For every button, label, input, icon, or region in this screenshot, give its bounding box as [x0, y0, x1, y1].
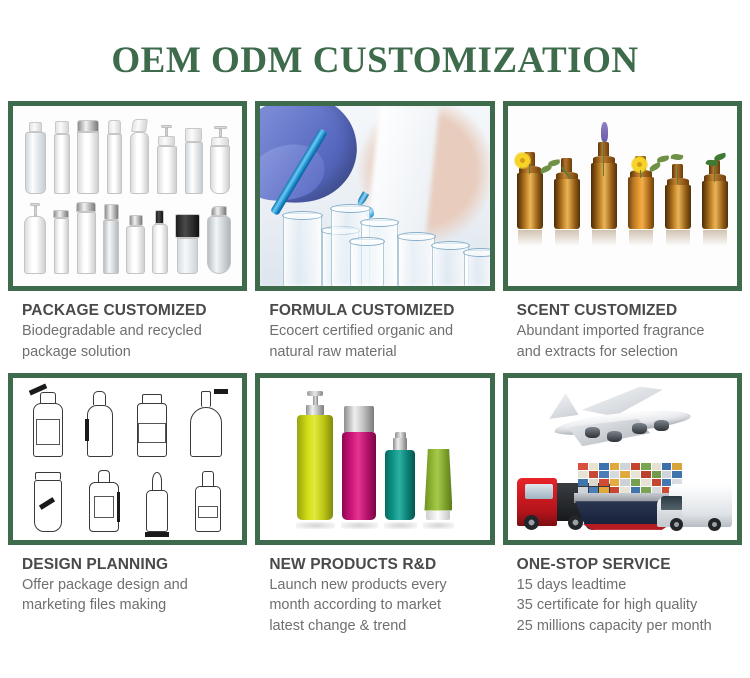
card-caption: NEW PRODUCTS R&D Launch new products eve… [255, 545, 494, 637]
card-image-frame [503, 101, 742, 291]
pink-bottle [342, 406, 376, 520]
card-description-line: Offer package design and [22, 575, 233, 596]
card-image-frame [255, 373, 494, 545]
white-cosmetic-bottles-photo [13, 106, 242, 286]
card-description-line: and extracts for selection [517, 342, 728, 363]
card-image-frame [503, 373, 742, 545]
card-title: FORMULA CUSTOMIZED [269, 301, 480, 320]
card-scent-customized[interactable]: SCENT CUSTOMIZED Abundant imported fragr… [503, 101, 742, 363]
card-description-line: natural raw material [269, 342, 480, 363]
teal-spray-bottle [385, 432, 415, 520]
card-description: Launch new products every month accordin… [269, 575, 480, 637]
card-one-stop-service[interactable]: ONE-STOP SERVICE 15 days leadtime 35 cer… [503, 373, 742, 637]
card-title: PACKAGE CUSTOMIZED [22, 301, 233, 320]
card-description: 15 days leadtime 35 certificate for high… [517, 575, 728, 637]
card-title: DESIGN PLANNING [22, 555, 233, 574]
card-description-line: 35 certificate for high quality [517, 595, 728, 616]
card-caption: SCENT CUSTOMIZED Abundant imported fragr… [503, 291, 742, 363]
card-caption: DESIGN PLANNING Offer package design and… [8, 545, 247, 617]
card-new-products-rd[interactable]: NEW PRODUCTS R&D Launch new products eve… [255, 373, 494, 637]
card-description: Biodegradable and recycled package solut… [22, 321, 233, 362]
card-caption: PACKAGE CUSTOMIZED Biodegradable and rec… [8, 291, 247, 363]
card-title: ONE-STOP SERVICE [517, 555, 728, 574]
card-caption: ONE-STOP SERVICE 15 days leadtime 35 cer… [503, 545, 742, 637]
oem-odm-customization-page: OEM ODM CUSTOMIZATION [0, 0, 750, 678]
feature-grid-row-2: DESIGN PLANNING Offer package design and… [0, 373, 750, 637]
packaging-sketch-drawings [13, 378, 242, 540]
card-description-line: month according to market [269, 595, 480, 616]
card-design-planning[interactable]: DESIGN PLANNING Offer package design and… [8, 373, 247, 637]
lavender-icon [601, 122, 608, 142]
card-description-line: 15 days leadtime [517, 575, 728, 596]
card-description: Abundant imported fragrance and extracts… [517, 321, 728, 362]
logistics-plane-truck-ship-van-photo [508, 378, 737, 540]
amber-essential-oil-bottles-photo [508, 106, 737, 286]
card-description-line: Launch new products every [269, 575, 480, 596]
card-image-frame [8, 373, 247, 545]
card-caption: FORMULA CUSTOMIZED Ecocert certified org… [255, 291, 494, 363]
green-tube [424, 449, 452, 520]
card-description-line: Biodegradable and recycled [22, 321, 233, 342]
airplane-icon [544, 390, 700, 455]
card-title: NEW PRODUCTS R&D [269, 555, 480, 574]
card-description-line: package solution [22, 342, 233, 363]
colored-cosmetic-bottles-photo [260, 378, 489, 540]
yellow-pump-bottle [297, 391, 333, 520]
card-description: Ecocert certified organic and natural ra… [269, 321, 480, 362]
card-description: Offer package design and marketing files… [22, 575, 233, 616]
page-title: OEM ODM CUSTOMIZATION [0, 0, 750, 79]
card-description-line: Abundant imported fragrance [517, 321, 728, 342]
van-icon [657, 478, 733, 531]
card-description-line: 25 millions capacity per month [517, 616, 728, 637]
card-description-line: Ecocert certified organic and [269, 321, 480, 342]
card-description-line: latest change & trend [269, 616, 480, 637]
card-formula-customized[interactable]: FORMULA CUSTOMIZED Ecocert certified org… [255, 101, 494, 363]
laboratory-pipette-test-tubes-photo [260, 106, 489, 286]
card-package-customized[interactable]: PACKAGE CUSTOMIZED Biodegradable and rec… [8, 101, 247, 363]
card-title: SCENT CUSTOMIZED [517, 301, 728, 320]
card-description-line: marketing files making [22, 595, 233, 616]
card-image-frame [255, 101, 494, 291]
feature-grid-row-1: PACKAGE CUSTOMIZED Biodegradable and rec… [0, 101, 750, 363]
card-image-frame [8, 101, 247, 291]
